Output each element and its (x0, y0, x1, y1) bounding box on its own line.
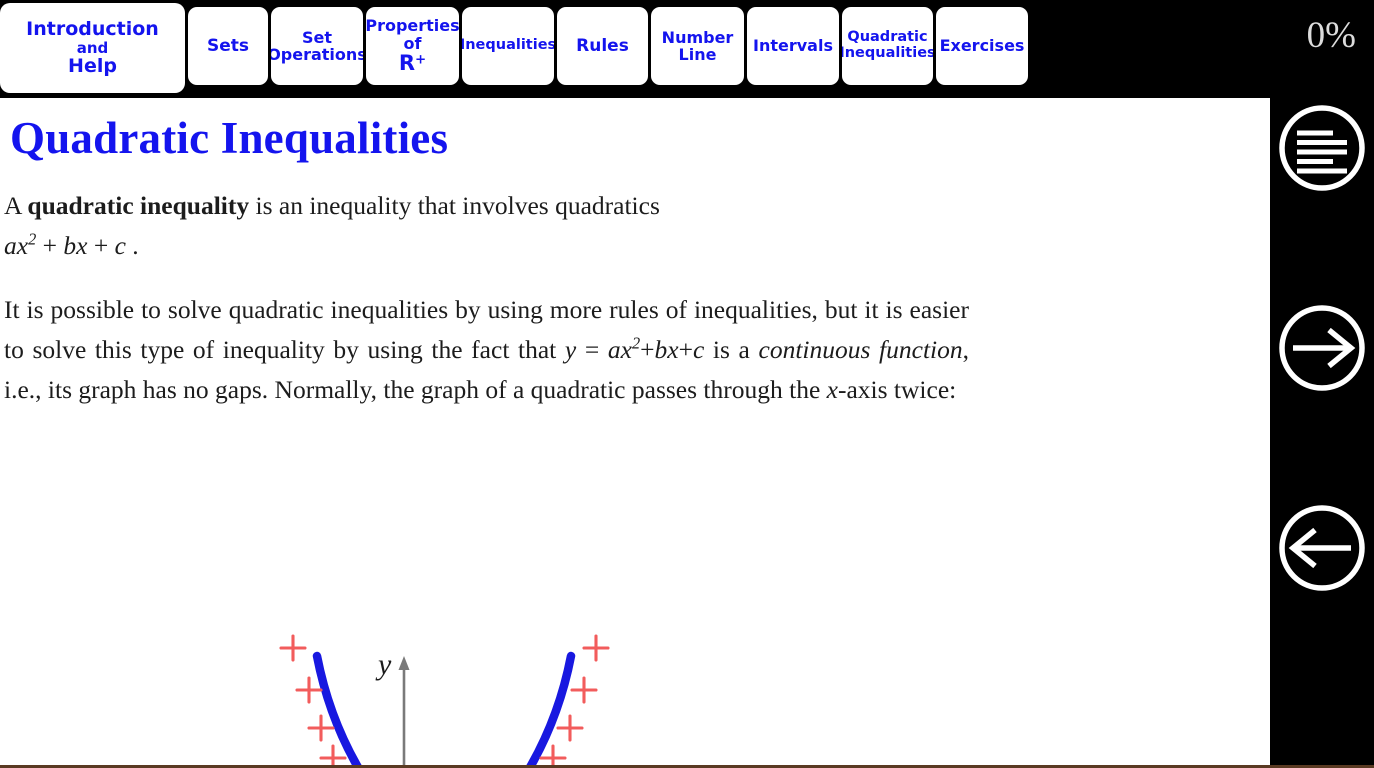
next-page-button[interactable] (1270, 298, 1374, 398)
tab-label-line: Exercises (940, 37, 1025, 54)
tab-label-line: of (404, 35, 422, 52)
math-operator-equals: = (576, 335, 608, 364)
plus-icon (572, 678, 596, 702)
math-operator: + (679, 335, 693, 364)
math-operator: + (87, 231, 114, 260)
tab-rules[interactable]: Rules (557, 7, 648, 85)
plus-icon (309, 716, 333, 740)
math-variable-x: x (76, 231, 87, 260)
parabola-curve (317, 656, 571, 765)
plus-icon (584, 636, 608, 660)
tab-label-line: Set (302, 29, 332, 46)
plus-icon (297, 678, 321, 702)
tab-label-line: Intervals (753, 37, 833, 54)
tab-exercises[interactable]: Exercises (936, 7, 1028, 85)
tab-strip: Introduction and Help Sets Set Operation… (0, 0, 1028, 98)
math-variable-x: x (827, 375, 838, 404)
tab-label-r: R (399, 51, 415, 75)
tab-label-line: Number (662, 29, 734, 46)
math-exponent-2: 2 (632, 334, 640, 353)
math-coefficient-a: a (4, 231, 17, 260)
tab-introduction-and-help[interactable]: Introduction and Help (0, 3, 185, 93)
math-constant-c: c (115, 231, 126, 260)
tab-inequalities[interactable]: Inequalities (462, 7, 554, 85)
tab-label-line: Introduction (26, 19, 159, 40)
page-title: Quadratic Inequalities (10, 112, 448, 164)
parabola-svg: y x (0, 518, 1270, 765)
tab-label-line: Sets (207, 37, 249, 55)
emphasis-continuous-function: continuous function (759, 335, 963, 364)
text-fragment: is an inequality that involves quadratic… (249, 191, 660, 220)
math-variable-x: x (17, 231, 28, 260)
tab-quadratic-inequalities[interactable]: Quadratic Inequalities (842, 7, 933, 85)
math-operator: + (36, 231, 63, 260)
math-exponent-2: 2 (28, 230, 36, 249)
tab-label-line: Properties (366, 17, 459, 34)
tab-properties-of-r-plus[interactable]: Properties of R+ (366, 7, 459, 85)
progress-percentage: 0% (1307, 14, 1356, 57)
text-fragment: A (4, 191, 27, 220)
previous-page-button[interactable] (1270, 498, 1374, 598)
term-quadratic-inequality: quadratic inequality (27, 191, 249, 220)
math-constant-c: c (693, 335, 704, 364)
parabola-sign-diagram-figure: y x (0, 518, 1270, 765)
tab-label-line: Inequalities (842, 46, 933, 62)
math-variable-x: x (621, 335, 632, 364)
lesson-content-area: Quadratic Inequalities A quadratic inequ… (0, 98, 1270, 765)
tab-label-line: Rules (576, 37, 629, 55)
math-coefficient-a: a (608, 335, 621, 364)
paragraph-explanation: It is possible to solve quadratic inequa… (4, 290, 969, 410)
tab-label-line: Line (679, 46, 717, 63)
tab-label-line: Operations (271, 46, 363, 63)
tab-label-line: Quadratic (847, 30, 927, 46)
tab-intervals[interactable]: Intervals (747, 7, 839, 85)
math-period: . (126, 231, 139, 260)
arrow-left-icon (1275, 501, 1369, 595)
math-coefficient-b: b (654, 335, 667, 364)
tab-label-line: R+ (399, 52, 426, 75)
plus-icon (281, 636, 305, 660)
plus-icon (321, 746, 345, 765)
paragraph-definition: A quadratic inequality is an inequality … (4, 186, 969, 266)
y-axis-label: y (375, 648, 392, 681)
tab-label-superscript-plus: + (415, 53, 426, 68)
text-fragment: is a (704, 335, 758, 364)
tab-number-line[interactable]: Number Line (651, 7, 744, 85)
tab-label-line: and (77, 40, 109, 56)
tab-label-line: Inequalities (462, 38, 554, 54)
math-variable-x: x (667, 335, 678, 364)
tab-set-operations[interactable]: Set Operations (271, 7, 363, 85)
math-variable-y: y (565, 335, 576, 364)
contents-lines-icon (1275, 101, 1369, 195)
tab-sets[interactable]: Sets (188, 7, 268, 85)
plus-icon (541, 746, 565, 765)
tab-label-line: Help (68, 56, 117, 77)
top-navigation-bar: Introduction and Help Sets Set Operation… (0, 0, 1374, 98)
y-axis (399, 656, 410, 765)
arrow-right-icon (1275, 301, 1369, 395)
text-fragment: -axis twice: (838, 375, 956, 404)
plus-icon (558, 716, 582, 740)
right-sidebar (1270, 98, 1374, 768)
contents-button[interactable] (1270, 98, 1374, 198)
math-operator: + (640, 335, 654, 364)
math-coefficient-b: b (63, 231, 76, 260)
